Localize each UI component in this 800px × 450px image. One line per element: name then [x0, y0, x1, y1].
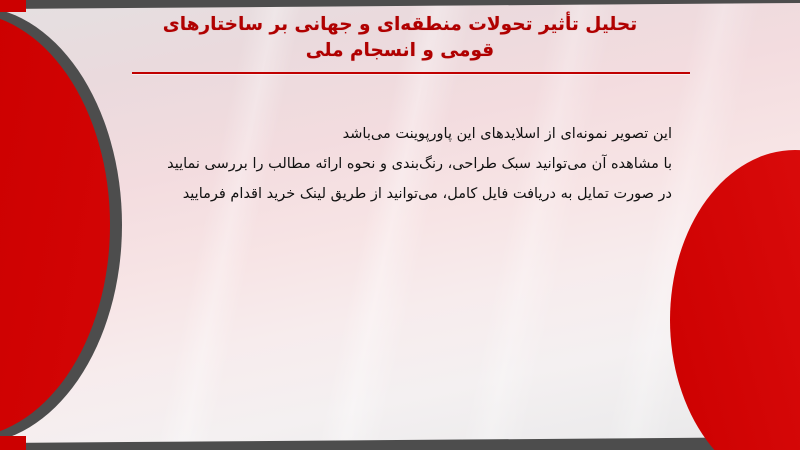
body-text-block: این تصویر نمونه‌ای از اسلایدهای این پاور…	[172, 124, 672, 205]
slide-title: تحلیل تأثیر تحولات منطقه‌ای و جهانی بر س…	[110, 12, 690, 65]
body-line-2: با مشاهده آن می‌توانید سبک طراحی، رنگ‌بن…	[172, 154, 672, 175]
slide-canvas: تحلیل تأثیر تحولات منطقه‌ای و جهانی بر س…	[0, 0, 800, 450]
body-line-1: این تصویر نمونه‌ای از اسلایدهای این پاور…	[172, 124, 672, 145]
title-underline-rule	[132, 72, 690, 74]
body-line-3: در صورت تمایل به دریافت فایل کامل، می‌تو…	[172, 184, 672, 205]
slide-content: تحلیل تأثیر تحولات منطقه‌ای و جهانی بر س…	[0, 0, 800, 450]
title-block: تحلیل تأثیر تحولات منطقه‌ای و جهانی بر س…	[110, 12, 690, 74]
